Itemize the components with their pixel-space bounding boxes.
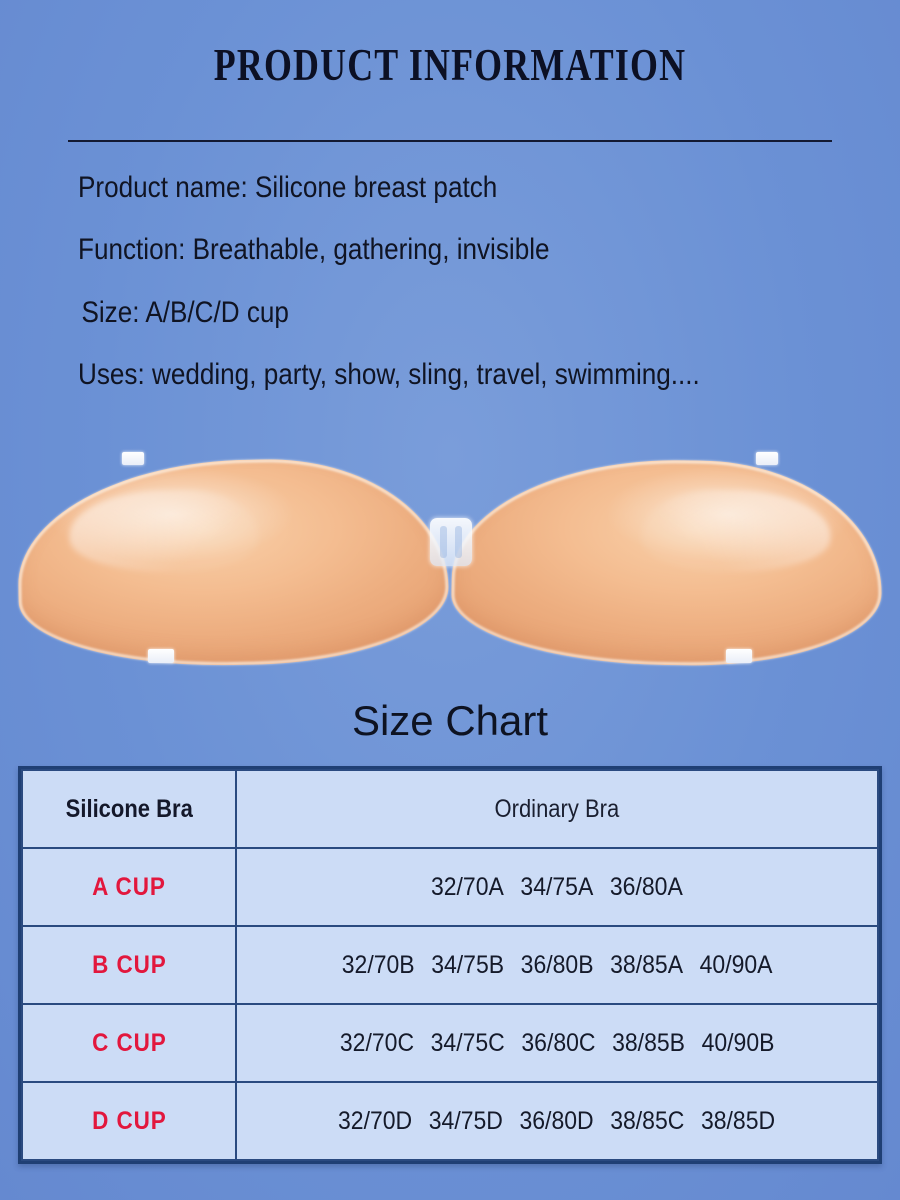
sizes-cell-a: 32/70A34/75A36/80A (236, 848, 878, 926)
front-clasp-icon (430, 518, 472, 566)
info-line-size: Size: A/B/C/D cup (78, 297, 783, 329)
table-header-silicone-bra: Silicone Bra (22, 770, 236, 848)
table-header-row: Silicone Bra Ordinary Bra (22, 770, 878, 848)
sizes-cell-c: 32/70C34/75C36/80C38/85B40/90B (236, 1004, 878, 1082)
silicone-cup-left (16, 456, 450, 668)
size-chart-table: Silicone Bra Ordinary Bra A CUP 32/70A34… (21, 769, 879, 1161)
size-chart-heading: Size Chart (0, 697, 900, 745)
sizes-list-d: 32/70D34/75D36/80D38/85C38/85D (330, 1107, 784, 1136)
table-row: C CUP 32/70C34/75C36/80C38/85B40/90B (22, 1004, 878, 1082)
strap-tab-top-right (756, 452, 778, 465)
product-information-page: PRODUCT INFORMATION Product name: Silico… (0, 0, 900, 1200)
info-line-product-name: Product name: Silicone breast patch (78, 172, 783, 204)
info-line-uses: Uses: wedding, party, show, sling, trave… (78, 359, 783, 391)
sizes-list-c: 32/70C34/75C36/80C38/85B40/90B (331, 1029, 782, 1058)
table-header-ordinary-bra: Ordinary Bra (236, 770, 878, 848)
table-row: D CUP 32/70D34/75D36/80D38/85C38/85D (22, 1082, 878, 1160)
title-divider (68, 140, 832, 142)
sizes-cell-b: 32/70B34/75B36/80B38/85A40/90A (236, 926, 878, 1004)
cup-cell-d: D CUP (22, 1082, 236, 1160)
page-title: PRODUCT INFORMATION (99, 38, 801, 91)
size-chart-table-wrapper: Silicone Bra Ordinary Bra A CUP 32/70A34… (18, 766, 882, 1164)
sizes-list-a: 32/70A34/75A36/80A (423, 873, 691, 902)
info-line-function: Function: Breathable, gathering, invisib… (78, 234, 783, 266)
sizes-cell-d: 32/70D34/75D36/80D38/85C38/85D (236, 1082, 878, 1160)
cup-cell-a: A CUP (22, 848, 236, 926)
strap-tab-top-left (122, 452, 144, 465)
product-info-list: Product name: Silicone breast patch Func… (78, 172, 888, 422)
table-row: B CUP 32/70B34/75B36/80B38/85A40/90A (22, 926, 878, 1004)
cup-rim-left (16, 456, 450, 668)
strap-tab-bottom-right (726, 649, 752, 663)
product-photo (0, 452, 900, 692)
cup-cell-c: C CUP (22, 1004, 236, 1082)
table-row: A CUP 32/70A34/75A36/80A (22, 848, 878, 926)
silicone-cup-right (450, 456, 884, 668)
cup-cell-b: B CUP (22, 926, 236, 1004)
sizes-list-b: 32/70B34/75B36/80B38/85A40/90A (333, 951, 780, 980)
strap-tab-bottom-left (148, 649, 174, 663)
